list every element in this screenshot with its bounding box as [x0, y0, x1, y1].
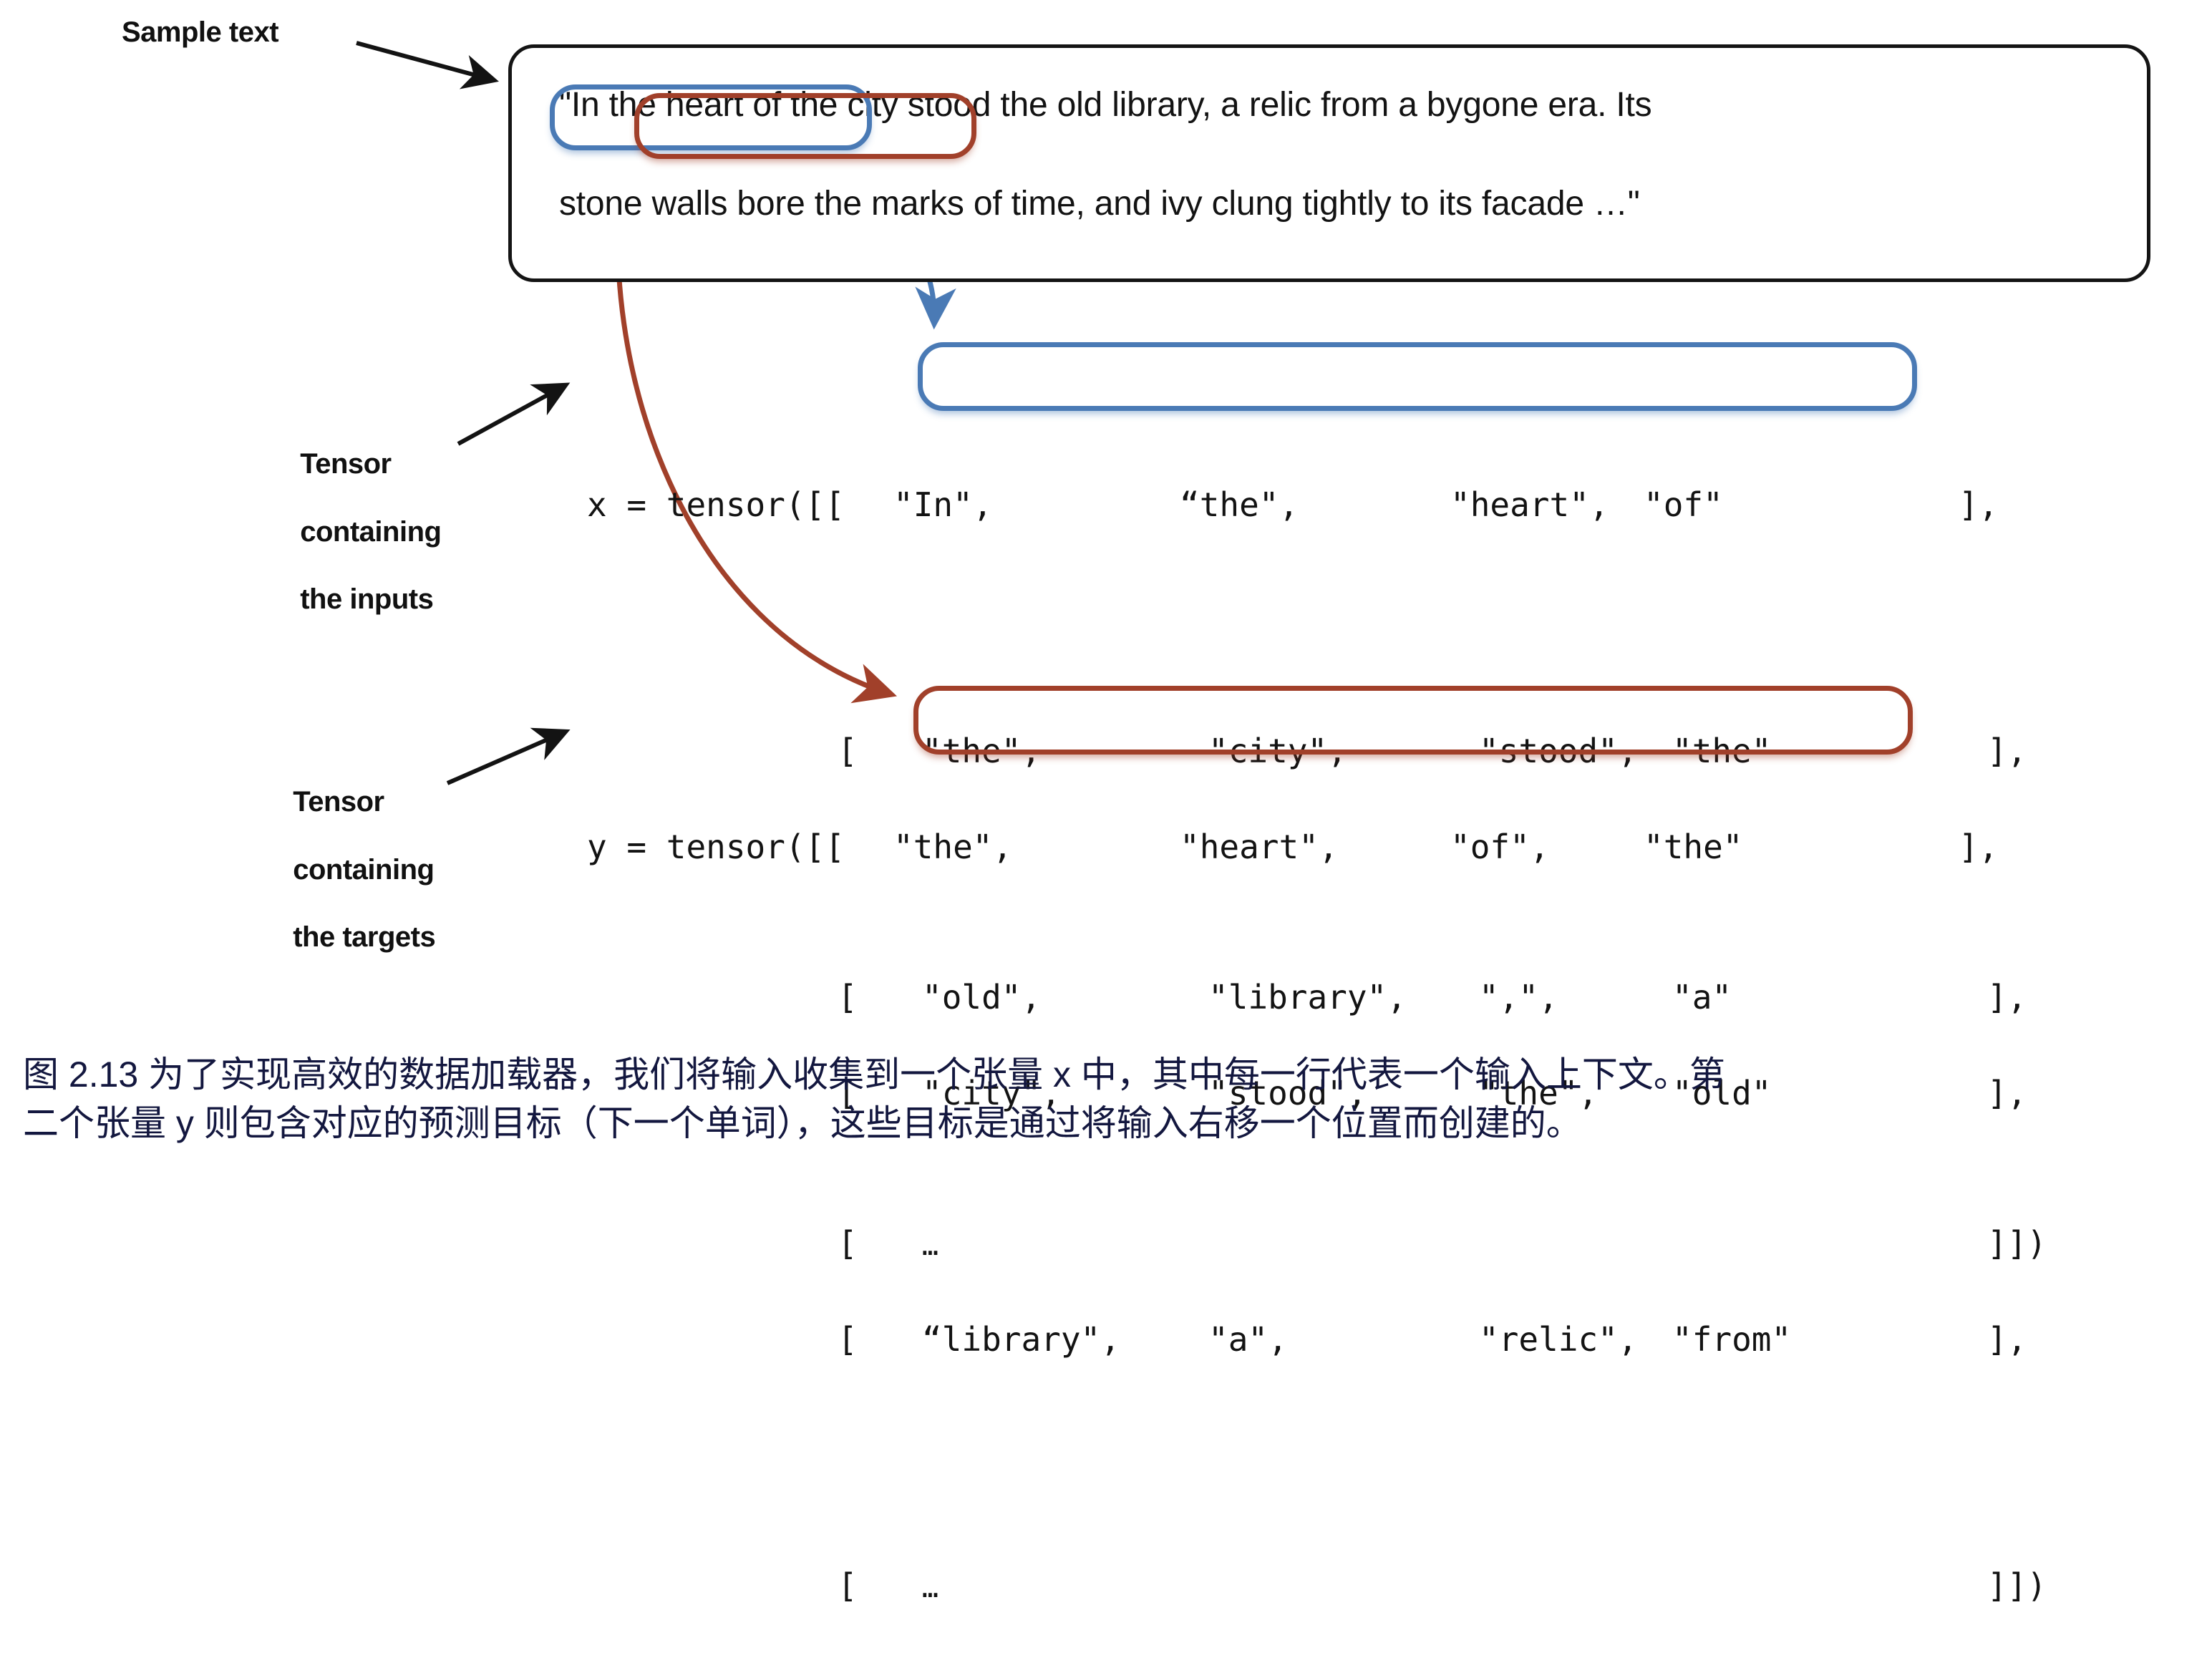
y-close-0: ], — [1959, 828, 1998, 866]
tensor-targets-label-line-2: containing — [293, 854, 434, 886]
y-cell-0-1: "heart", — [1180, 816, 1450, 878]
y-tensor-row: […]]) — [587, 1555, 2047, 1616]
target-window-highlight-in-sample-text — [634, 93, 976, 159]
tensor-targets-label: Tensor containing the targets — [278, 752, 435, 954]
tensor-inputs-label-line-3: the inputs — [300, 583, 433, 615]
y-cell-2-3: "from" — [1672, 1309, 1987, 1370]
y-cell-0-3: "the" — [1644, 816, 1959, 878]
y-tensor-first-row-highlight — [913, 686, 1913, 755]
y-close-2: ], — [1987, 1320, 2027, 1359]
sample-text-label: Sample text — [122, 16, 278, 49]
y-cell-0-2: "of", — [1450, 816, 1644, 878]
tensor-inputs-arrow — [458, 385, 566, 444]
x-tensor-row: x = tensor([["In",“the","heart","of"], — [587, 474, 2047, 535]
x-cell-0-2: "heart", — [1450, 474, 1644, 535]
figure-caption-line-1: 图 2.13 为了实现高效的数据加载器，我们将输入收集到一个张量 x 中，其中每… — [23, 1051, 2192, 1100]
x-close-0: ], — [1959, 485, 1998, 524]
y-open-2: [ — [838, 1309, 881, 1370]
y-open-3: [ — [838, 1555, 881, 1616]
tensor-targets-arrow — [447, 732, 566, 783]
y-tensor-code-block: y = tensor([["the","heart","of","the"], … — [587, 693, 2047, 1678]
tensor-targets-label-line-3: the targets — [293, 921, 435, 953]
x-cell-0-0: "In", — [893, 474, 1180, 535]
figure-caption: 图 2.13 为了实现高效的数据加载器，我们将输入收集到一个张量 x 中，其中每… — [23, 1051, 2192, 1148]
sample-text-line-2: stone walls bore the marks of time, and … — [559, 184, 1640, 223]
x-tensor-first-row-highlight — [918, 342, 1917, 411]
y-cell-3-0: … — [922, 1557, 1987, 1619]
figure-caption-line-2: 二个张量 y 则包含对应的预测目标（下一个单词），这些目标是通过将输入右移一个位… — [23, 1100, 2192, 1148]
y-cell-2-1: "a", — [1208, 1309, 1479, 1370]
y-tensor-row: [“library","a","relic","from"], — [587, 1309, 2047, 1370]
y-cell-0-0: "the", — [893, 816, 1180, 878]
tensor-inputs-label: Tensor containing the inputs — [285, 414, 441, 616]
tensor-targets-label-line-1: Tensor — [293, 786, 384, 818]
tensor-inputs-label-line-1: Tensor — [300, 448, 391, 480]
x-cell-0-1: “the", — [1180, 474, 1450, 535]
y-tensor-row: y = tensor([["the","heart","of","the"], — [587, 816, 2047, 878]
y-tensor-prefix: y = tensor([[ — [587, 828, 845, 866]
sample-text-arrow — [356, 43, 494, 80]
x-cell-0-3: "of" — [1644, 474, 1959, 535]
x-tensor-prefix: x = tensor([[ — [587, 485, 845, 524]
y-close-3: ]]) — [1987, 1566, 2047, 1605]
y-cell-2-2: "relic", — [1479, 1309, 1672, 1370]
tensor-inputs-label-line-2: containing — [300, 516, 441, 548]
sample-text-box: "In the heart of the city stood the old … — [508, 44, 2150, 282]
y-cell-2-0: “library", — [922, 1309, 1208, 1370]
